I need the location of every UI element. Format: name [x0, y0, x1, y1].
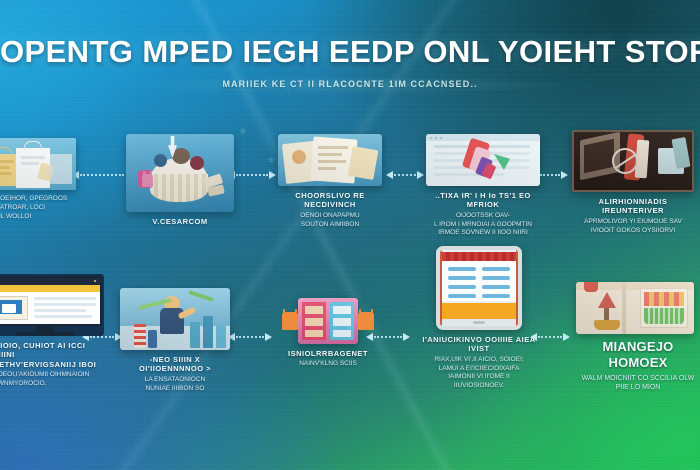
flow-step-caption: .WS OEIHOR, GPEGROOS PRHATROAR, LOCI EXA…: [0, 195, 80, 221]
flow-step-review-interface[interactable]: ALIRHIONNIADIS IREUNTERIVER APRMOLIVOR Y…: [572, 130, 694, 235]
hand-right-icon: [358, 312, 374, 330]
retail-shelf-icon: [576, 282, 694, 334]
flow-arrow-r2-2: [228, 330, 272, 344]
flow-arrow-r1-2: [228, 168, 276, 182]
desktop-monitor-icon: [0, 274, 104, 336]
flow-step-research-supplies[interactable]: .WS OEIHOR, GPEGROOS PRHATROAR, LOCI EXA…: [0, 138, 80, 221]
header: OPENTG MPED IEGH EEDP ONL YOIEHT STORSE …: [0, 36, 700, 89]
flow-step-caption: ISNIOLRRBAGENET NAINV'KLNG SCIIS: [276, 349, 380, 369]
flow-step-research[interactable]: V.CESARCOM: [126, 134, 234, 228]
shopping-bags-icon: [0, 138, 76, 190]
flow-arrow-r1-3: [386, 168, 424, 182]
flow-step-title: CHOORSLIVO RE NECDIVINCH: [278, 191, 382, 210]
dark-monitor-icon: [572, 130, 694, 192]
arrowhead-right-icon: [417, 171, 424, 179]
arrow-dash: [236, 336, 264, 338]
flow-arrow-r1-4: [540, 168, 568, 182]
arrowhead-right-icon: [269, 171, 276, 179]
flow-step-caption: CHOORSLIVO RE NECDIVINCH OENOI ONAPAPMU …: [278, 191, 382, 229]
arrowhead-right-icon: [561, 171, 568, 179]
flow-step-title: I'ANIUCIKINVO OOIIIIE AIEA IVIST: [414, 335, 544, 354]
flow-step-title: MIANGEJO HOMOEX: [576, 339, 700, 372]
flow-step-caption: OHIOIO, CUHIOT AI ICCI OMIINI IC ETHV'ER…: [0, 341, 110, 389]
arrow-dash: [540, 174, 560, 176]
arrow-dash: [236, 174, 268, 176]
flow-step-caption: -NEO SIIIN X OI'IIOENNNNOO > LA ENSATAON…: [120, 355, 230, 393]
team-illustration-icon: [120, 288, 230, 350]
arrowhead-right-icon: [265, 333, 272, 341]
flow-step-choosing-products[interactable]: CHOORSLIVO RE NECDIVINCH OENOI ONAPAPMU …: [278, 134, 382, 229]
flow-step-subtitle: WALM MOICNIIT CO SCCILIA OLW PIIE LO MIO…: [576, 374, 700, 393]
flow-step-subtitle: OENOI ONAPAPMU SOUTON AIMIIBON: [278, 212, 382, 230]
arrowhead-left-icon: [386, 171, 393, 179]
flow-step-title: ALIRHIONNIADIS IREUNTERIVER: [572, 197, 694, 216]
arrowhead-right-icon: [563, 333, 570, 341]
flow-step-subtitle: NAINV'KLNG SCIIS: [276, 360, 380, 369]
market-research-icon: [126, 134, 234, 212]
flow-step-title: V.CESARCOM: [126, 217, 234, 226]
flow-step-subtitle: LA ENSATAONIOCN NUNIAE IIIIBON SO: [120, 376, 230, 394]
arrow-dash: [80, 174, 124, 176]
arrow-dash: [394, 174, 416, 176]
flow-step-caption: ALIRHIONNIADIS IREUNTERIVER APRMOLIVOR Y…: [572, 197, 694, 235]
flow-step-subtitle: APRMOLIVOR YI EIUMOUE SAV IVIOOIT GOKOS …: [572, 218, 694, 236]
flow-step-title: -NEO SIIIN X OI'IIOENNNNOO >: [120, 355, 230, 374]
browser-window-icon: [426, 134, 540, 186]
flow-step-caption: ..TIXA IR' I H Io TS'1 EO MFRIOK OIJOOTS…: [426, 191, 540, 238]
flow-step-subtitle: OIJOOTSSK OAV- L IROM I MRNOIAI A GOOPMT…: [426, 212, 540, 238]
flow-step-order-management[interactable]: I'ANIUCIKINVO OOIIIIE AIEA IVIST RIAX,UI…: [414, 246, 544, 391]
documents-icon: [278, 134, 382, 186]
flow-step-caption: V.CESARCOM: [126, 217, 234, 226]
flow-step-marketing-campaign[interactable]: -NEO SIIIN X OI'IIOENNNNOO > LA ENSATAON…: [120, 288, 230, 393]
flow-step-build-website[interactable]: OHIOIO, CUHIOT AI ICCI OMIINI IC ETHV'ER…: [0, 274, 110, 389]
flow-step-engagement[interactable]: ISNIOLRRBAGENET NAINV'KLNG SCIIS: [276, 298, 380, 369]
page-title: OPENTG MPED IEGH EEDP ONL YOIEHT STORSE: [0, 36, 700, 69]
page-subtitle: MARIIEK KE CT II RLACOCNTE 1IM CCACNSED.…: [0, 79, 700, 89]
arrowhead-right-icon: [403, 333, 410, 341]
flow-step-subtitle: RIAX,UIK VI'.II AICIO, SOIOEI; LAMUI A E…: [414, 356, 544, 391]
flow-step-subtitle: .WS OEIHOR, GPEGROOS PRHATROAR, LOCI EXA…: [0, 195, 80, 221]
storefront-icon: [298, 298, 358, 344]
flow-step-title: ISNIOLRRBAGENET: [276, 349, 380, 358]
flow-step-manage-store[interactable]: MIANGEJO HOMOEX WALM MOICNIIT CO SCCILIA…: [576, 282, 700, 392]
flow-step-caption: I'ANIUCIKINVO OOIIIIE AIEA IVIST RIAX,UI…: [414, 335, 544, 391]
flow-step-subtitle: OUOEOI,I'AKIOUMII OIHMNAIOIN OUWNMYOROCI…: [0, 371, 110, 389]
flow-step-store-setup[interactable]: ..TIXA IR' I H Io TS'1 EO MFRIOK OIJOOTS…: [426, 134, 540, 238]
flow-step-title: OHIOIO, CUHIOT AI ICCI OMIINI IC ETHV'ER…: [0, 341, 110, 369]
flow-step-title: ..TIXA IR' I H Io TS'1 EO MFRIOK: [426, 191, 540, 210]
flow-step-caption: MIANGEJO HOMOEX WALM MOICNIIT CO SCCILIA…: [576, 339, 700, 392]
tablet-form-icon: [436, 246, 522, 330]
hand-left-icon: [282, 312, 298, 330]
